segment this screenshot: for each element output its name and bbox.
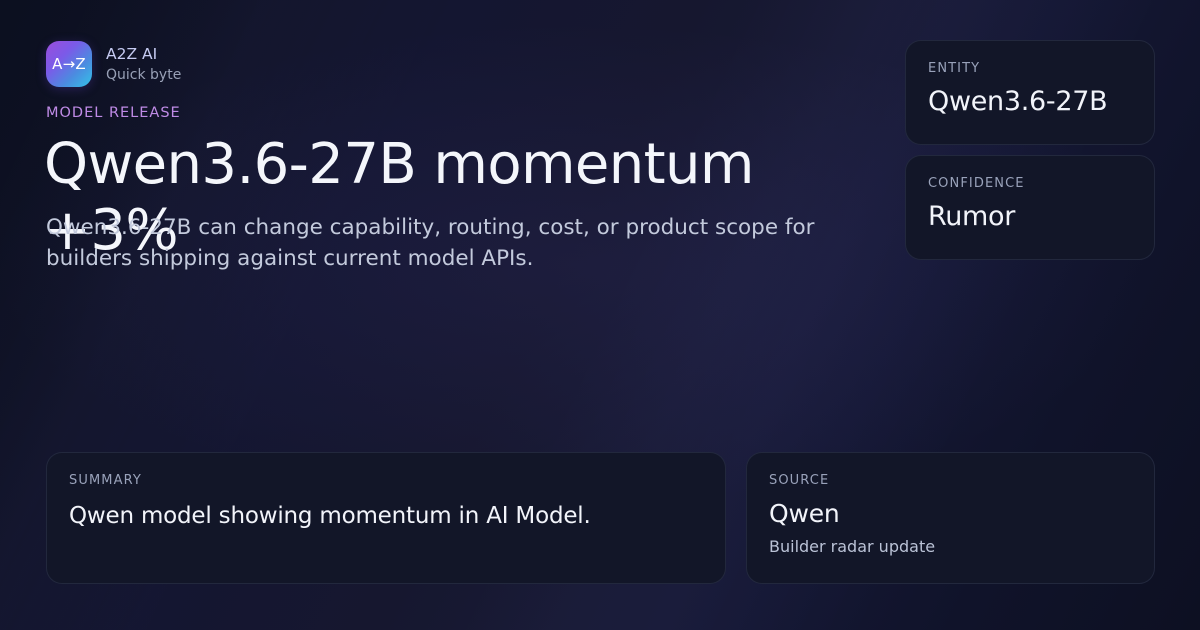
page-subtitle: Qwen3.6-27B can change capability, routi…: [46, 212, 836, 274]
summary-card-label: SUMMARY: [69, 473, 703, 488]
entity-card-value: Qwen3.6-27B: [928, 85, 1132, 119]
confidence-card-label: CONFIDENCE: [928, 176, 1132, 191]
source-card: SOURCE Qwen Builder radar update: [746, 452, 1155, 584]
source-card-subtext: Builder radar update: [769, 536, 1132, 557]
source-card-label: SOURCE: [769, 473, 1132, 488]
share-card-canvas: A→Z A2Z AI Quick byte MODEL RELEASE Qwen…: [0, 0, 1200, 630]
logo-glyph: A→Z: [52, 55, 86, 73]
summary-card-value: Qwen model showing momentum in AI Model.: [69, 500, 703, 532]
brand-tagline: Quick byte: [106, 66, 181, 84]
entity-card-label: ENTITY: [928, 61, 1132, 76]
summary-card: SUMMARY Qwen model showing momentum in A…: [46, 452, 726, 584]
entity-card: ENTITY Qwen3.6-27B: [905, 40, 1155, 145]
confidence-card-value: Rumor: [928, 200, 1132, 234]
source-card-value: Qwen: [769, 498, 1132, 530]
brand-lockup: A→Z A2Z AI Quick byte: [46, 41, 181, 87]
brand-name: A2Z AI: [106, 45, 181, 64]
confidence-card: CONFIDENCE Rumor: [905, 155, 1155, 260]
category-eyebrow: MODEL RELEASE: [46, 105, 181, 121]
a-to-z-gradient-logo-icon: A→Z: [46, 41, 92, 87]
brand-text: A2Z AI Quick byte: [106, 45, 181, 84]
